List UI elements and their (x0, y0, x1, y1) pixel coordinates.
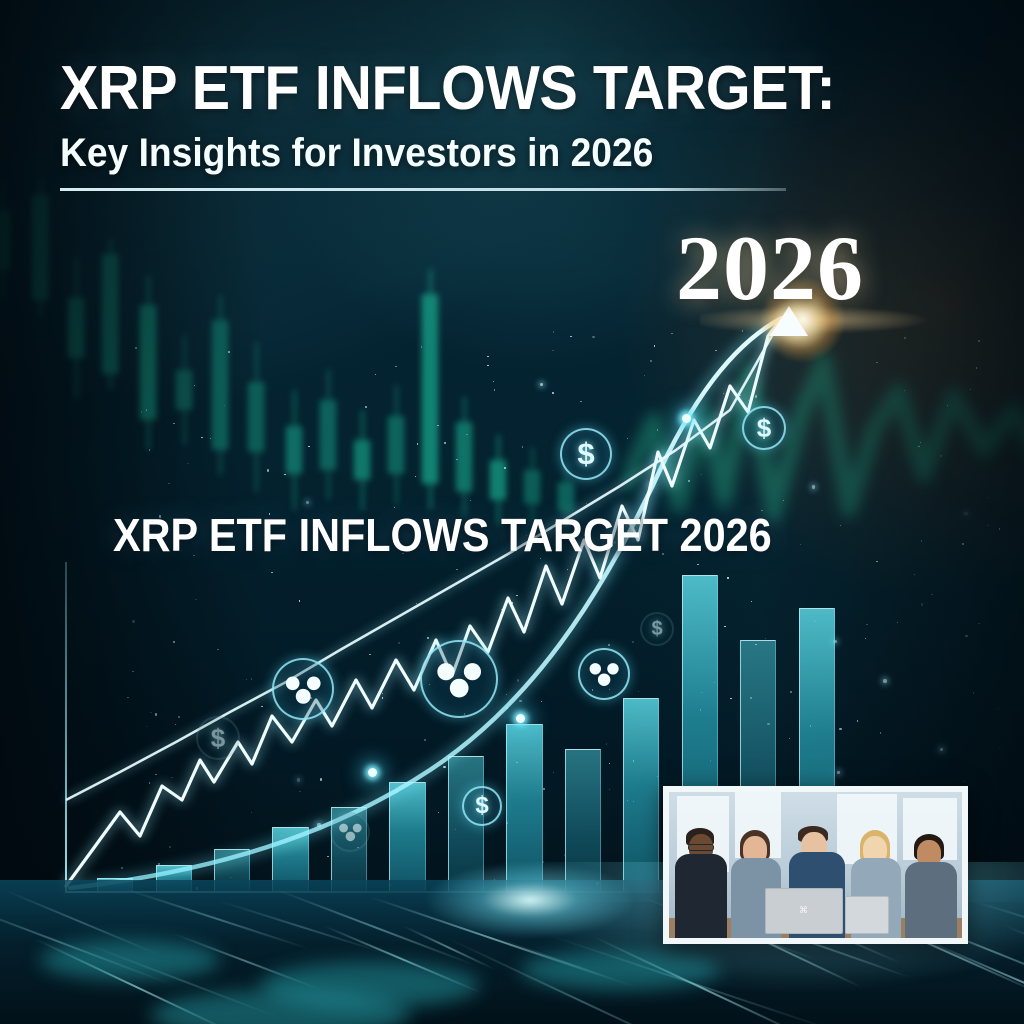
business-team-photo: ⌘ (663, 786, 968, 944)
dollar-coin-icon: $ (462, 786, 502, 826)
photo-person-body (675, 854, 727, 938)
ripple-xrp-icon (420, 640, 498, 718)
photo-glasses (688, 844, 714, 851)
page-title: XRP ETF INFLOWS TARGET: (60, 58, 902, 120)
page-subtitle: Key Insights for Investors in 2026 (60, 131, 860, 175)
photo-laptop-logo: ⌘ (799, 906, 808, 915)
dollar-coin-icon: $ (196, 716, 240, 760)
data-node-glow (516, 714, 525, 723)
center-light-burst (380, 845, 680, 955)
dollar-glyph: $ (211, 723, 225, 754)
title-divider (60, 188, 786, 191)
photo-tablet (845, 896, 889, 934)
photo-content: ⌘ (669, 792, 962, 938)
dollar-coin-icon: $ (640, 612, 674, 646)
ripple-xrp-icon (272, 658, 334, 720)
data-node-glow (368, 768, 377, 777)
ripple-xrp-icon (578, 648, 630, 700)
dollar-glyph: $ (651, 618, 662, 641)
chart-title-overlay: XRP ETF INFLOWS TARGET 2026 (113, 510, 772, 560)
dollar-glyph: $ (757, 413, 771, 444)
ripple-xrp-icon (330, 812, 370, 852)
dollar-coin-icon: $ (560, 428, 612, 480)
data-node-glow (682, 414, 691, 423)
poster-canvas: $$$$$ XRP ETF INFLOWS TARGET: Key Insigh… (0, 0, 1024, 1024)
photo-person-body (905, 862, 957, 938)
dollar-glyph: $ (475, 792, 488, 820)
dollar-glyph: $ (577, 436, 594, 472)
dollar-coin-icon: $ (742, 406, 786, 450)
year-badge: 2026 (676, 222, 864, 314)
